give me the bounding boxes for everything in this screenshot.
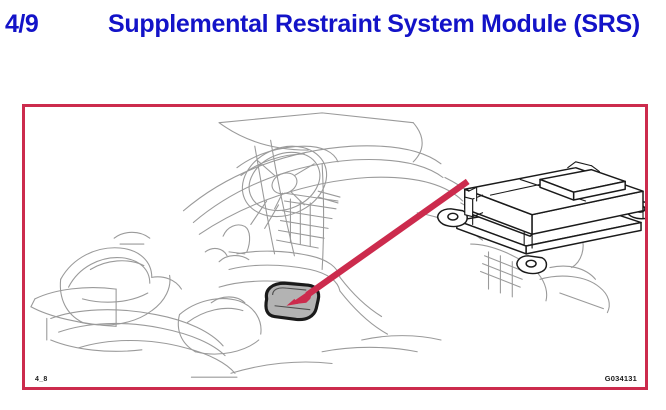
- figure-illustration: [25, 107, 645, 387]
- slide-header: 4/9 Supplemental Restraint System Module…: [0, 0, 666, 96]
- callout-arrow-to-module-location: [286, 181, 467, 305]
- figure-ref-left: 4_8: [35, 376, 48, 383]
- slide-number: 4/9: [5, 10, 38, 39]
- figure-frame: 4_8 G034131: [22, 104, 648, 390]
- figure-ref-right: G034131: [605, 374, 637, 383]
- srs-control-module-line-art: [438, 162, 645, 274]
- slide-page: 4/9 Supplemental Restraint System Module…: [0, 0, 666, 410]
- page-title: Supplemental Restraint System Module (SR…: [108, 9, 658, 40]
